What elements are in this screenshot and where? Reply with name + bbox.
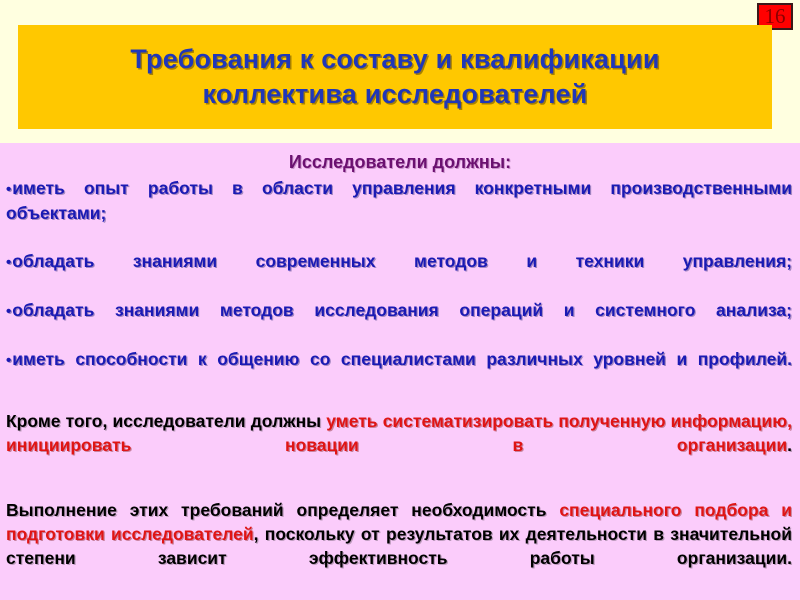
- requirements-list: иметь опыт работы в области управления к…: [6, 177, 794, 396]
- list-item-text: обладать знаниями методов исследования о…: [12, 300, 792, 320]
- list-item: обладать знаниями методов исследования о…: [6, 299, 794, 347]
- paragraph-additional: Кроме того, исследователи должны уметь с…: [6, 409, 794, 481]
- paragraph-additional-tail: .: [787, 435, 792, 455]
- list-item-text: обладать знаниями современных методов и …: [12, 251, 792, 271]
- spacer: [6, 481, 794, 498]
- paragraph-additional-lead: Кроме того, исследователи должны: [6, 411, 326, 431]
- paragraph-conclusion: Выполнение этих требований определяет не…: [6, 498, 794, 594]
- list-item: обладать знаниями современных методов и …: [6, 250, 794, 298]
- content-panel: Исследователи должны: иметь опыт работы …: [0, 143, 800, 600]
- slide-title: Требования к составу и квалификации колл…: [18, 42, 772, 112]
- paragraph-conclusion-lead: Выполнение этих требований определяет не…: [6, 500, 559, 520]
- list-item: иметь способности к общению со специалис…: [6, 348, 794, 396]
- list-item: иметь опыт работы в области управления к…: [6, 177, 794, 249]
- lead-line: Исследователи должны:: [6, 149, 794, 175]
- slide-canvas: 16 Требования к составу и квалификации к…: [0, 0, 800, 600]
- list-item-text: иметь опыт работы в области управления к…: [6, 178, 792, 223]
- title-banner: Требования к составу и квалификации колл…: [18, 25, 772, 129]
- list-item-text: иметь способности к общению со специалис…: [12, 349, 792, 369]
- slide-title-line-2: коллектива исследователей: [18, 77, 772, 112]
- spacer: [6, 397, 794, 409]
- slide-title-line-1: Требования к составу и квалификации: [18, 42, 772, 77]
